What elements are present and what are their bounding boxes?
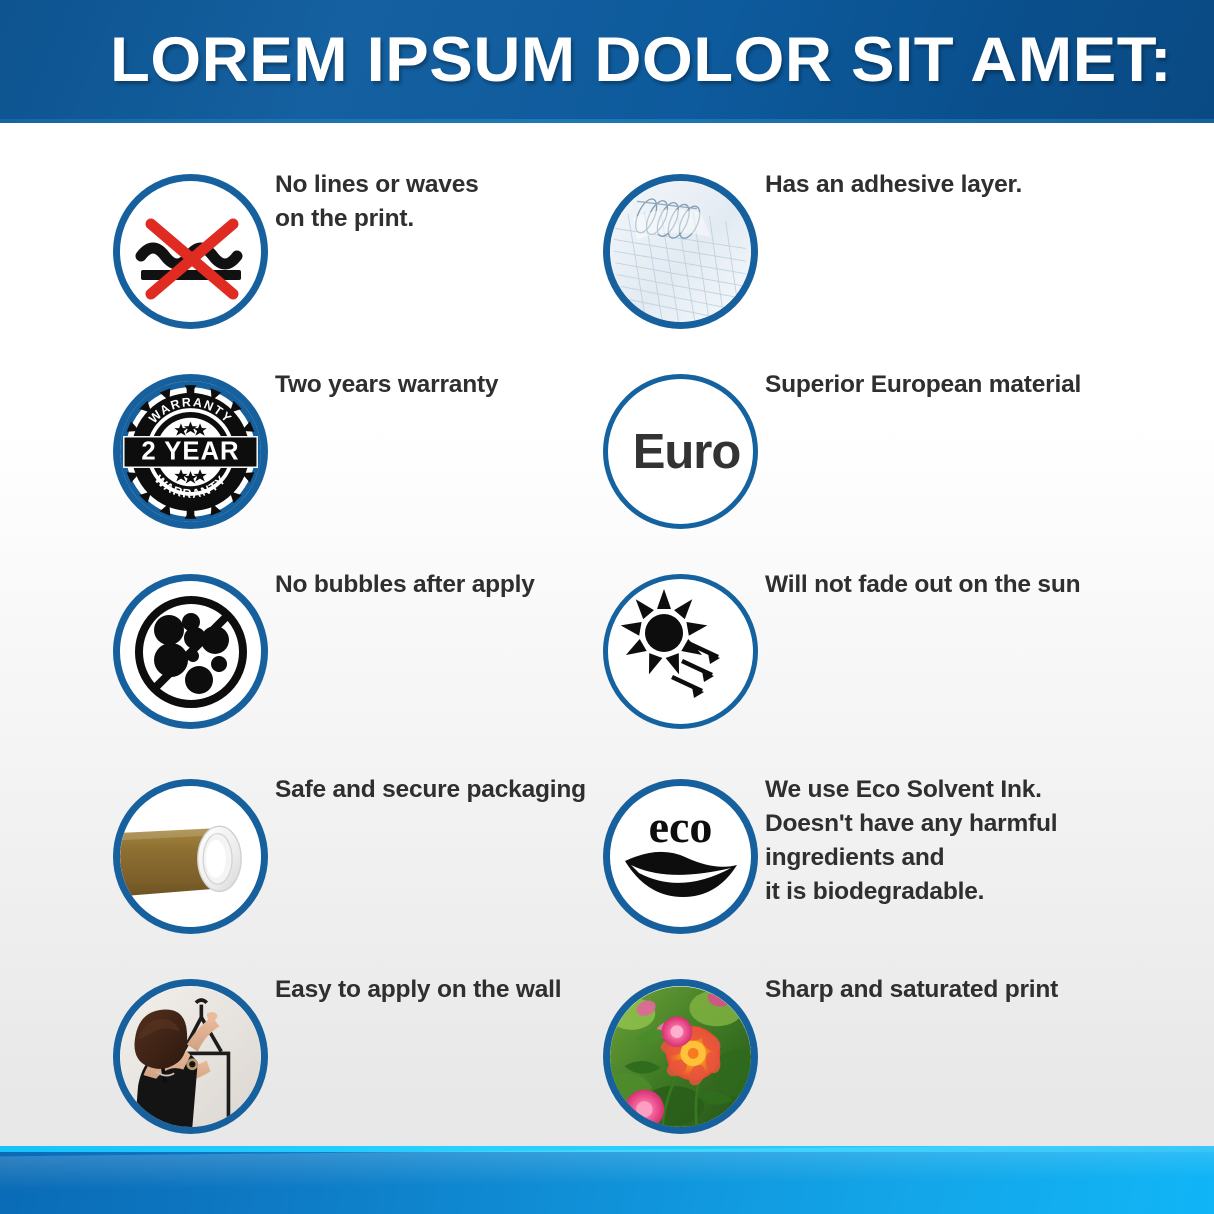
page-title: LOREM IPSUM DOLOR SIT AMET: xyxy=(110,20,1155,100)
footer-sheen xyxy=(0,1146,1214,1191)
shipping-tube-icon xyxy=(113,779,268,934)
adhesive-film-roll-icon xyxy=(603,174,758,329)
woman-applying-wall-photo-icon xyxy=(113,979,268,1134)
feature-label: Two years warranty xyxy=(275,368,620,402)
feature-label: Easy to apply on the wall xyxy=(275,973,635,1007)
flowers-photo-glyph xyxy=(610,979,751,1134)
feature-label: No lines or waves on the print. xyxy=(275,168,620,236)
feature-eco-solvent-ink[interactable]: eco We use Eco Solvent Ink. Doesn't have… xyxy=(590,765,1110,965)
warranty-badge-glyph: WARRANTY WARRANTY xyxy=(120,378,261,526)
feature-label: Safe and secure packaging xyxy=(275,773,635,807)
feature-adhesive-layer[interactable]: Has an adhesive layer. xyxy=(590,160,1110,360)
feature-label: Sharp and saturated print xyxy=(765,973,1125,1007)
shipping-tube-glyph xyxy=(120,779,261,934)
feature-will-not-fade[interactable]: Will not fade out on the sun xyxy=(590,560,1110,760)
euro-icon: Euro xyxy=(603,374,758,529)
feature-label: Will not fade out on the sun xyxy=(765,568,1125,602)
footer-band xyxy=(0,1146,1214,1214)
warranty-center-label: 2 YEAR xyxy=(141,437,239,465)
feature-no-bubbles[interactable]: No bubbles after apply xyxy=(100,560,620,760)
feature-easy-to-apply[interactable]: Easy to apply on the wall xyxy=(100,965,620,1165)
eco-label: eco xyxy=(649,807,713,847)
sun-rays-glyph xyxy=(616,587,746,717)
no-bubbles-glyph xyxy=(127,588,255,716)
feature-two-years-warranty[interactable]: WARRANTY WARRANTY xyxy=(100,360,620,560)
feature-label: Superior European material xyxy=(765,368,1125,402)
feature-superior-european-material[interactable]: Euro Superior European material xyxy=(590,360,1110,560)
feature-sharp-saturated-print[interactable]: Sharp and saturated print xyxy=(590,965,1110,1165)
warranty-badge-icon: WARRANTY WARRANTY xyxy=(113,374,268,529)
flowers-photo-icon xyxy=(603,979,758,1134)
eco-leaf-icon: eco xyxy=(603,779,758,934)
no-bubbles-icon xyxy=(113,574,268,729)
features-grid: No lines or waves on the print. xyxy=(0,123,1214,1148)
no-waves-glyph xyxy=(127,188,255,316)
feature-label: We use Eco Solvent Ink. Doesn't have any… xyxy=(765,773,1125,909)
sun-rays-icon xyxy=(603,574,758,729)
feature-label: No bubbles after apply xyxy=(275,568,620,602)
eco-leaf-glyph xyxy=(621,849,741,901)
adhesive-film-roll-glyph xyxy=(610,174,751,329)
feature-safe-packaging[interactable]: Safe and secure packaging xyxy=(100,765,620,965)
woman-applying-wall-photo-glyph xyxy=(120,979,261,1134)
feature-no-lines-or-waves[interactable]: No lines or waves on the print. xyxy=(100,160,620,360)
no-waves-icon xyxy=(113,174,268,329)
feature-label: Has an adhesive layer. xyxy=(765,168,1125,202)
infographic-page: LOREM IPSUM DOLOR SIT AMET: No lines or … xyxy=(0,0,1214,1214)
euro-label: Euro xyxy=(633,424,741,480)
header-banner: LOREM IPSUM DOLOR SIT AMET: xyxy=(0,0,1214,123)
